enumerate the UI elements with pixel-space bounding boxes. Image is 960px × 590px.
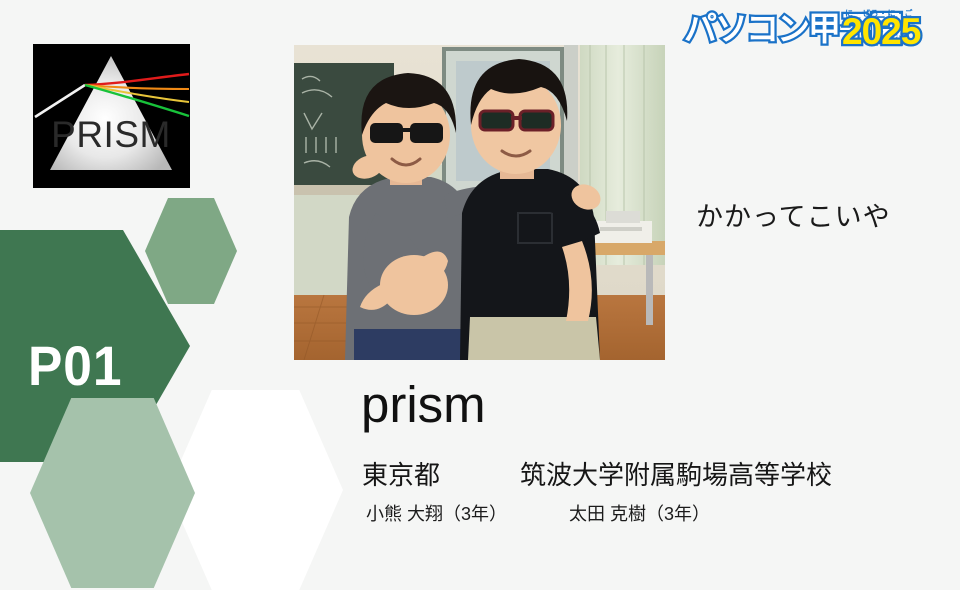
hexagon-sage-top-right <box>145 198 237 304</box>
event-logo: パソコン甲子園 に・ぜろ・に・ご 2025 <box>682 2 960 48</box>
team-name: prism <box>361 378 486 432</box>
team-members-row: 小熊 大翔（3年） 太田 克樹（3年） <box>366 500 710 526</box>
event-logo-year-text: 2025 <box>842 11 921 48</box>
team-school: 筑波大学附属駒場高等学校 <box>520 455 832 492</box>
hexagon-white <box>168 390 343 590</box>
team-member-2: 太田 克樹（3年） <box>569 500 710 526</box>
school-info-row: 東京都 筑波大学附属駒場高等学校 <box>362 455 832 492</box>
team-member-1: 小熊 大翔（3年） <box>366 500 507 526</box>
team-logo-word: PRISM <box>51 114 171 155</box>
team-logo: PRISM <box>33 44 190 188</box>
team-catchphrase: かかってこいや <box>696 195 891 234</box>
team-prefecture: 東京都 <box>362 455 520 492</box>
team-slot-label: P01 <box>28 338 122 394</box>
team-photo <box>294 45 665 360</box>
